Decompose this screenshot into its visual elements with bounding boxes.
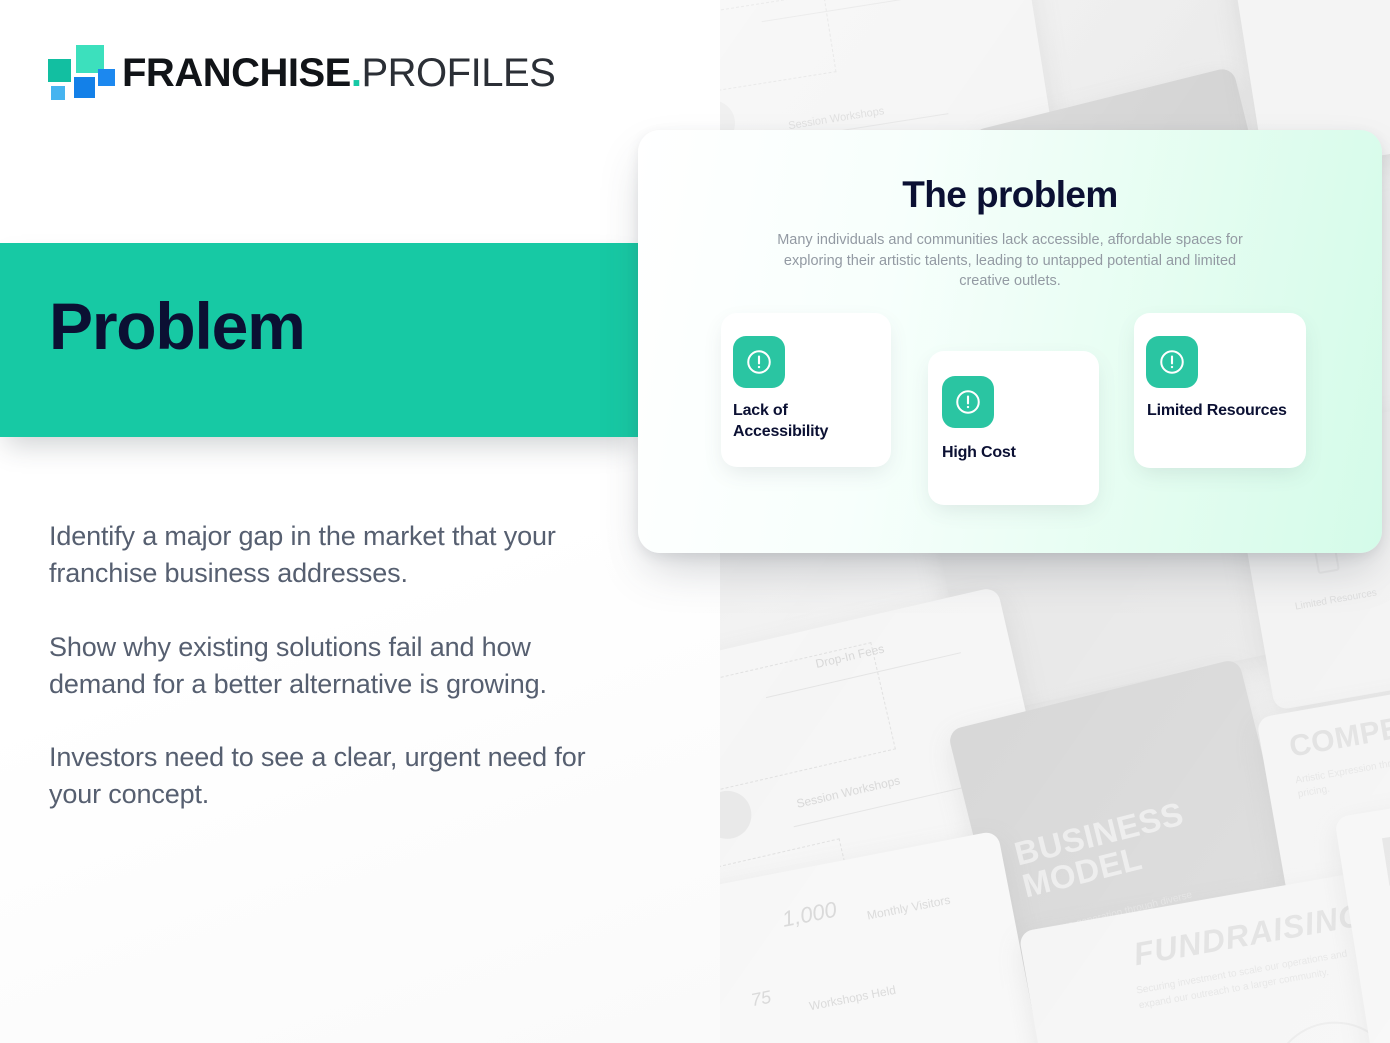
problem-card-label: Limited Resources: [1147, 401, 1296, 422]
section-banner: Problem: [0, 243, 641, 437]
brand-wordmark: FRANCHISE.PROFILES: [122, 53, 555, 93]
brand-logo[interactable]: FRANCHISE.PROFILES: [48, 42, 555, 104]
page-title: Problem: [49, 293, 305, 359]
copy-paragraph-1: Identify a major gap in the market that …: [49, 518, 614, 593]
bg-text-revenue-1: Session Workshops: [787, 105, 885, 132]
logo-square-blue-small: [98, 69, 115, 86]
body-copy: Identify a major gap in the market that …: [49, 518, 614, 814]
bg-text-problem-2: Limited Resources: [1291, 586, 1382, 615]
brand-name-dot: .: [351, 51, 362, 95]
logo-square-blue: [74, 77, 95, 98]
alert-circle-icon: [942, 376, 994, 428]
logo-square-teal: [48, 59, 71, 82]
bg-dash-box: [714, 0, 837, 96]
alert-circle-icon: [733, 336, 785, 388]
preview-title: The problem: [638, 174, 1382, 216]
problem-card-high-cost[interactable]: High Cost: [928, 351, 1099, 505]
bg-circle-logo: [714, 786, 756, 844]
problem-card-label: High Cost: [942, 443, 1089, 464]
problem-card-lack-of-accessibility[interactable]: Lack of Accessibility: [721, 313, 891, 467]
copy-paragraph-2: Show why existing solutions fail and how…: [49, 629, 614, 704]
alert-circle-icon: [1146, 336, 1198, 388]
preview-subtitle: Many individuals and communities lack ac…: [758, 230, 1262, 292]
bg-comp-item-0: Flexible Pricing: [1379, 897, 1390, 936]
copy-paragraph-3: Investors need to see a clear, urgent ne…: [49, 739, 614, 814]
bg-bar-icon: [1382, 834, 1390, 886]
logo-square-light-blue: [51, 86, 65, 100]
brand-name-bold: FRANCHISE: [122, 51, 351, 95]
slide-canvas: Drop-In Fees Session Workshops Commissio…: [0, 0, 1390, 1043]
brand-name-thin: PROFILES: [361, 51, 555, 95]
bg-title-business-model-2: BUSINESS MODEL: [1011, 775, 1283, 903]
bg-stat-label-1: Workshops Held: [808, 983, 897, 1014]
problem-card-limited-resources[interactable]: Limited Resources: [1134, 313, 1306, 468]
problem-card-label: Lack of Accessibility: [733, 401, 881, 443]
squares-mark-icon: [48, 45, 108, 101]
bg-stat-value-0: 1,000: [780, 897, 839, 933]
slide-preview-panel[interactable]: The problem Many individuals and communi…: [638, 130, 1382, 553]
bg-stat-label-0: Monthly Visitors: [866, 893, 952, 923]
bg-dash-box: [714, 642, 896, 794]
bg-stat-value-1: 75: [749, 987, 773, 1011]
